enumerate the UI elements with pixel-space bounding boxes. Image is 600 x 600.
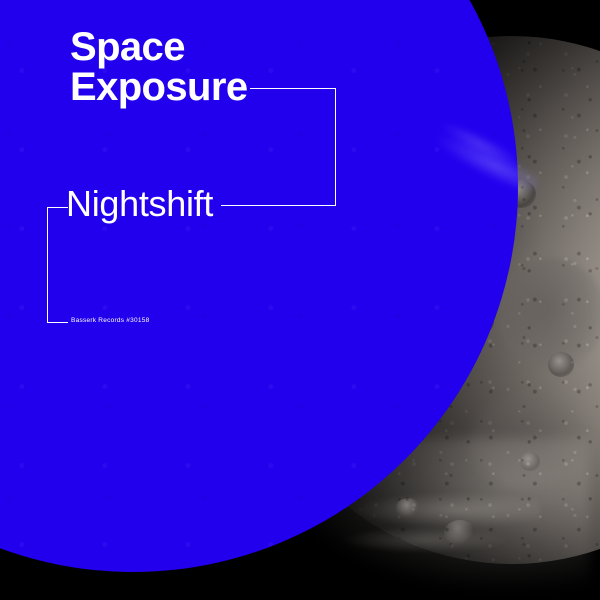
rule-left-bracket-vertical — [47, 207, 48, 323]
rule-title-horizontal — [250, 88, 336, 89]
album-title: Space Exposure — [70, 28, 248, 107]
rule-title-vertical — [335, 88, 336, 206]
rule-left-bracket-bottom — [47, 322, 68, 323]
label-catalog-number: Basserk Records #30158 — [71, 317, 150, 324]
album-subtitle: Nightshift — [66, 186, 213, 222]
rule-subtitle-horizontal — [221, 205, 336, 206]
album-cover: Space Exposure Nightshift Basserk Record… — [0, 0, 600, 600]
rule-left-bracket-top — [47, 207, 68, 208]
